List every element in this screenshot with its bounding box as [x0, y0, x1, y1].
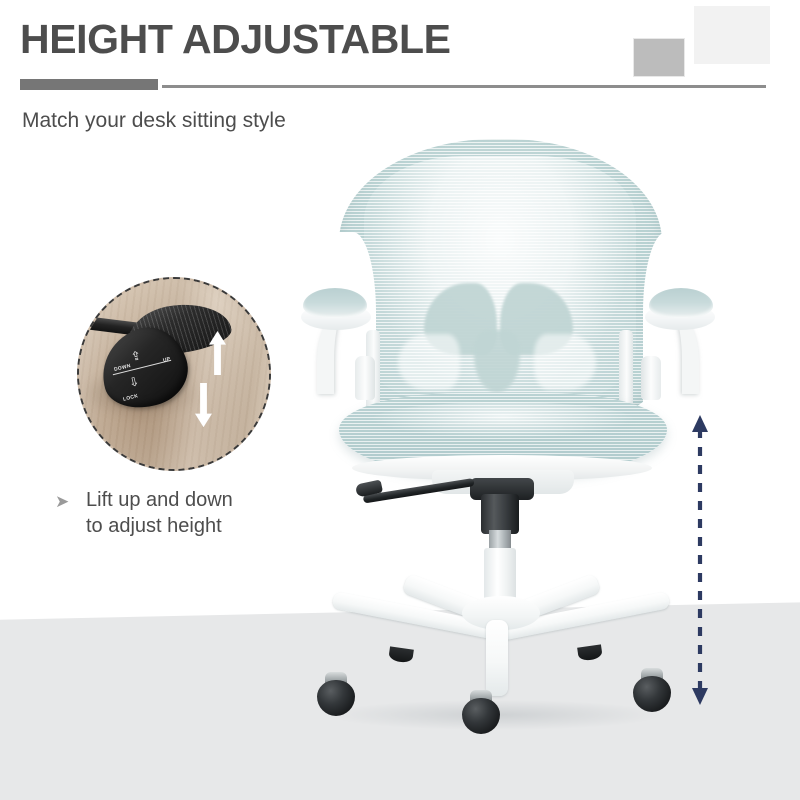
arrow-up-icon — [209, 331, 226, 375]
feature-caption-line-1: Lift up and down — [86, 487, 233, 513]
lever-closeup-inset: ⇪ DOWN UP ⇩ LOCK — [77, 277, 271, 471]
base-spoke-center — [486, 620, 508, 696]
feature-caption-line-2: to adjust height — [86, 513, 233, 539]
armrest-left-stem — [355, 356, 375, 400]
height-range-double-arrow — [688, 415, 712, 705]
caster-right — [633, 668, 671, 712]
bullet-arrow-icon: ➤ — [55, 495, 75, 509]
caster-center-wheel — [462, 698, 500, 734]
caster-right-wheel — [633, 676, 671, 712]
arrow-down-icon — [195, 383, 212, 427]
lumbar-side-left — [398, 334, 460, 390]
feature-caption: Lift up and down to adjust height — [86, 487, 233, 540]
caster-left-wheel — [317, 680, 355, 716]
seat-highlight — [372, 402, 634, 438]
infographic-canvas: HEIGHT ADJUSTABLE Match your desk sittin… — [0, 0, 800, 800]
armrest-right-stem — [641, 356, 661, 400]
caster-center — [462, 690, 500, 734]
lumbar-side-right — [534, 334, 596, 390]
armrest-right — [629, 286, 715, 396]
caster-socket-left — [388, 646, 414, 663]
caster-socket-right — [577, 644, 603, 661]
gas-cylinder-black — [481, 494, 519, 534]
caster-left — [317, 672, 355, 716]
armrest-left — [301, 286, 387, 396]
armrest-left-pad — [303, 288, 367, 318]
armrest-right-pad — [649, 288, 713, 318]
